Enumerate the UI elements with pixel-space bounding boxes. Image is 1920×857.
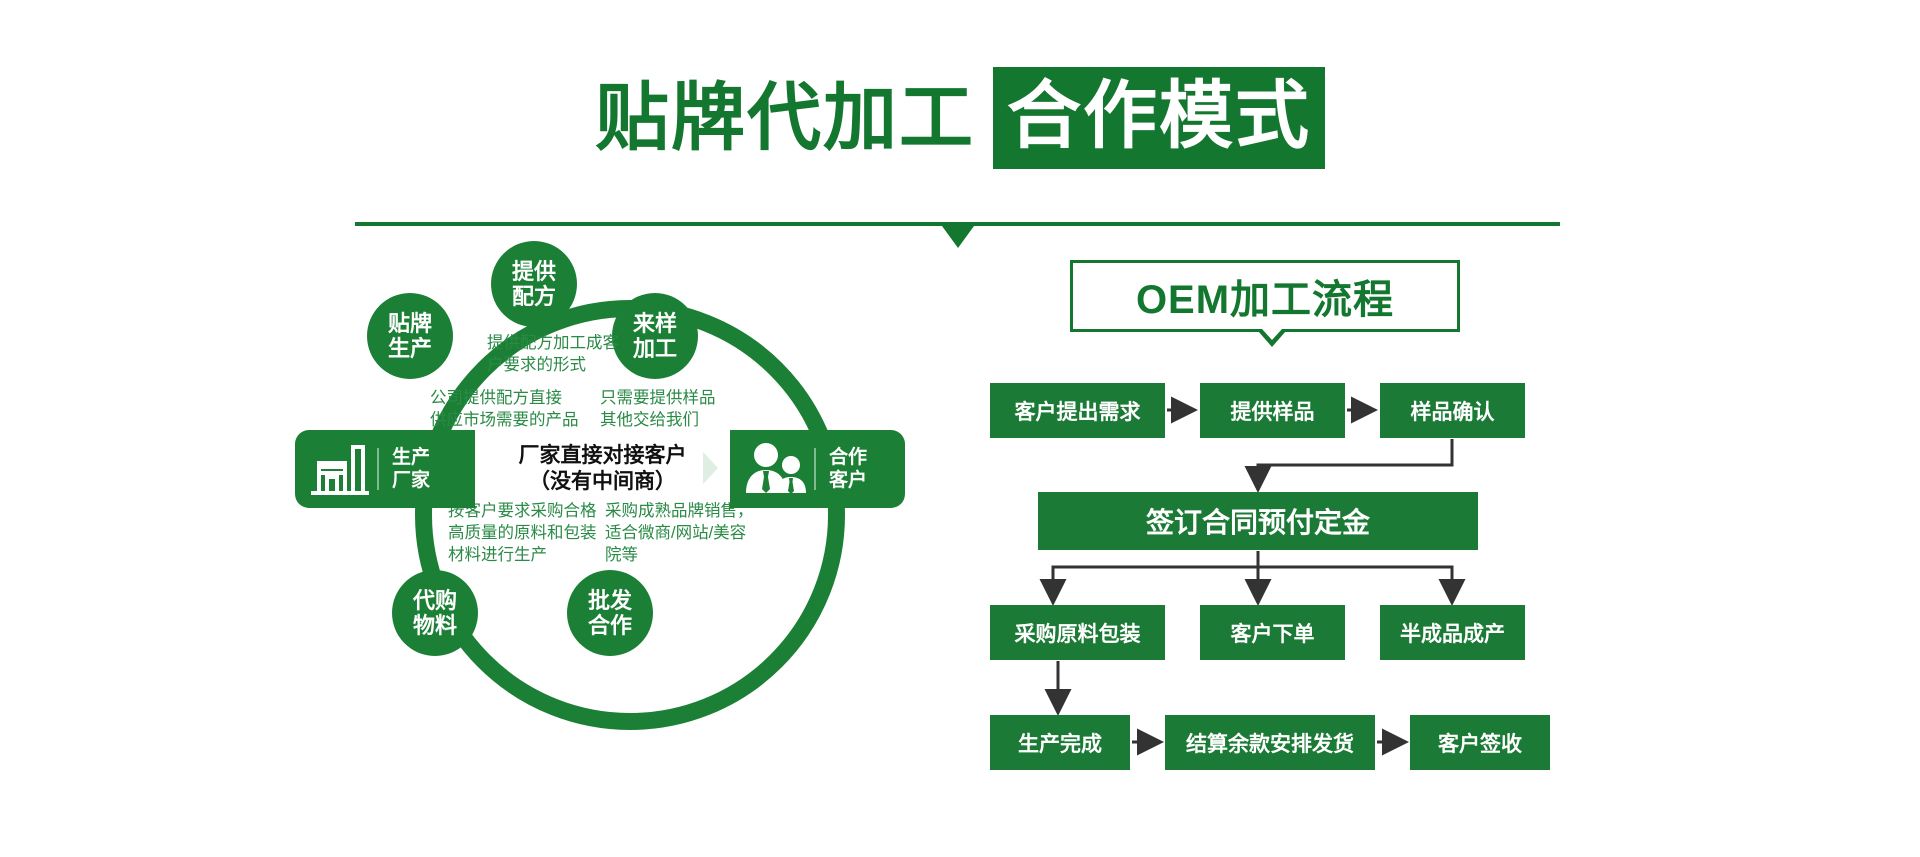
description-wholesale: 采购成熟品牌销售， 适合微商/网站/美容 院等 xyxy=(605,500,754,566)
customer-label-line-2: 客户 xyxy=(829,470,867,491)
desc-line: 院等 xyxy=(605,544,754,566)
node-line-1: 来样 xyxy=(633,311,677,336)
circle-node-wholesale-cooperation[interactable]: 批发 合作 xyxy=(567,570,653,656)
oem-flowchart: OEM加工流程 客户提出需求 提供样品 样品确认 xyxy=(990,255,1590,785)
manufacturer-label: 生产 厂家 xyxy=(392,446,430,492)
customer-label: 合作 客户 xyxy=(829,446,867,492)
infographic-canvas: 贴牌代加工 合作模式 贴牌 生产 提供 配方 来样 加工 xyxy=(0,0,1920,857)
manufacturer-label-line-1: 生产 xyxy=(392,447,430,468)
direct-connection-text: 厂家直接对接客户 （没有中间商） xyxy=(519,443,687,495)
desc-line: 供应市场需要的产品 xyxy=(430,409,579,431)
manufacturer-panel: 生产 厂家 xyxy=(295,430,475,508)
factory-icon xyxy=(309,441,371,497)
flow-box-semi-finished[interactable]: 半成品成产 xyxy=(1380,605,1525,660)
flow-box-customer-order[interactable]: 客户下单 xyxy=(1200,605,1345,660)
desc-line: 提供配方加工成客 xyxy=(487,332,619,354)
desc-line: 高质量的原料和包装 xyxy=(448,522,597,544)
desc-line: 公司提供配方直接 xyxy=(430,387,579,409)
people-icon xyxy=(742,441,808,497)
direct-connection-box: 厂家直接对接客户 （没有中间商） xyxy=(475,436,730,502)
page-title-plain: 贴牌代加工 xyxy=(595,81,975,155)
direct-connection-line-1: 厂家直接对接客户 xyxy=(519,443,687,469)
flow-box-customer-request[interactable]: 客户提出需求 xyxy=(990,383,1165,438)
manufacturer-label-line-2: 厂家 xyxy=(392,470,430,491)
node-line-1: 批发 xyxy=(588,588,632,613)
flow-box-purchase-materials[interactable]: 采购原料包装 xyxy=(990,605,1165,660)
description-oem-production: 公司提供配方直接 供应市场需要的产品 xyxy=(430,387,579,431)
node-line-2: 合作 xyxy=(588,613,632,638)
desc-line: 材料进行生产 xyxy=(448,544,597,566)
cooperation-circle-diagram: 贴牌 生产 提供 配方 来样 加工 代购 物料 批发 合作 xyxy=(340,255,900,785)
flow-box-sample-confirm[interactable]: 样品确认 xyxy=(1380,383,1525,438)
node-line-1: 贴牌 xyxy=(388,311,432,336)
node-line-2: 配方 xyxy=(512,284,556,309)
page-title-badge: 合作模式 xyxy=(993,67,1325,169)
node-line-2: 生产 xyxy=(388,336,432,361)
panel-divider xyxy=(377,448,379,490)
desc-line: 户要求的形式 xyxy=(487,354,619,376)
node-line-1: 提供 xyxy=(512,259,556,284)
customer-label-line-1: 合作 xyxy=(829,447,867,468)
flow-box-production-complete[interactable]: 生产完成 xyxy=(990,715,1130,770)
direct-connection-bar: 生产 厂家 厂家直接对接客户 （没有中间商） xyxy=(295,430,905,508)
node-line-2: 物料 xyxy=(413,613,457,638)
description-provide-formula: 提供配方加工成客 户要求的形式 xyxy=(487,332,619,376)
description-sample-processing: 只需要提供样品 其他交给我们 xyxy=(600,387,716,431)
flow-box-settle-balance-ship[interactable]: 结算余款安排发货 xyxy=(1165,715,1375,770)
circle-node-oem-production[interactable]: 贴牌 生产 xyxy=(367,293,453,379)
node-line-2: 加工 xyxy=(633,336,677,361)
node-line-1: 代购 xyxy=(413,588,457,613)
divider-triangle-icon xyxy=(942,226,974,248)
flow-box-customer-receipt[interactable]: 客户签收 xyxy=(1410,715,1550,770)
flow-box-sign-contract-deposit[interactable]: 签订合同预付定金 xyxy=(1038,492,1478,550)
description-material-purchase: 按客户要求采购合格 高质量的原料和包装 材料进行生产 xyxy=(448,500,597,566)
circle-node-material-purchase[interactable]: 代购 物料 xyxy=(392,570,478,656)
chevron-right-icon-right xyxy=(703,452,718,484)
customer-panel: 合作 客户 xyxy=(730,430,905,508)
desc-line: 只需要提供样品 xyxy=(600,387,716,409)
circle-node-provide-formula[interactable]: 提供 配方 xyxy=(491,241,577,327)
desc-line: 适合微商/网站/美容 xyxy=(605,522,754,544)
direct-connection-line-2: （没有中间商） xyxy=(519,469,687,495)
circle-node-sample-processing[interactable]: 来样 加工 xyxy=(612,293,698,379)
page-header: 贴牌代加工 合作模式 xyxy=(0,68,1920,168)
flow-box-provide-sample[interactable]: 提供样品 xyxy=(1200,383,1345,438)
desc-line: 其他交给我们 xyxy=(600,409,716,431)
panel-divider xyxy=(814,448,816,490)
